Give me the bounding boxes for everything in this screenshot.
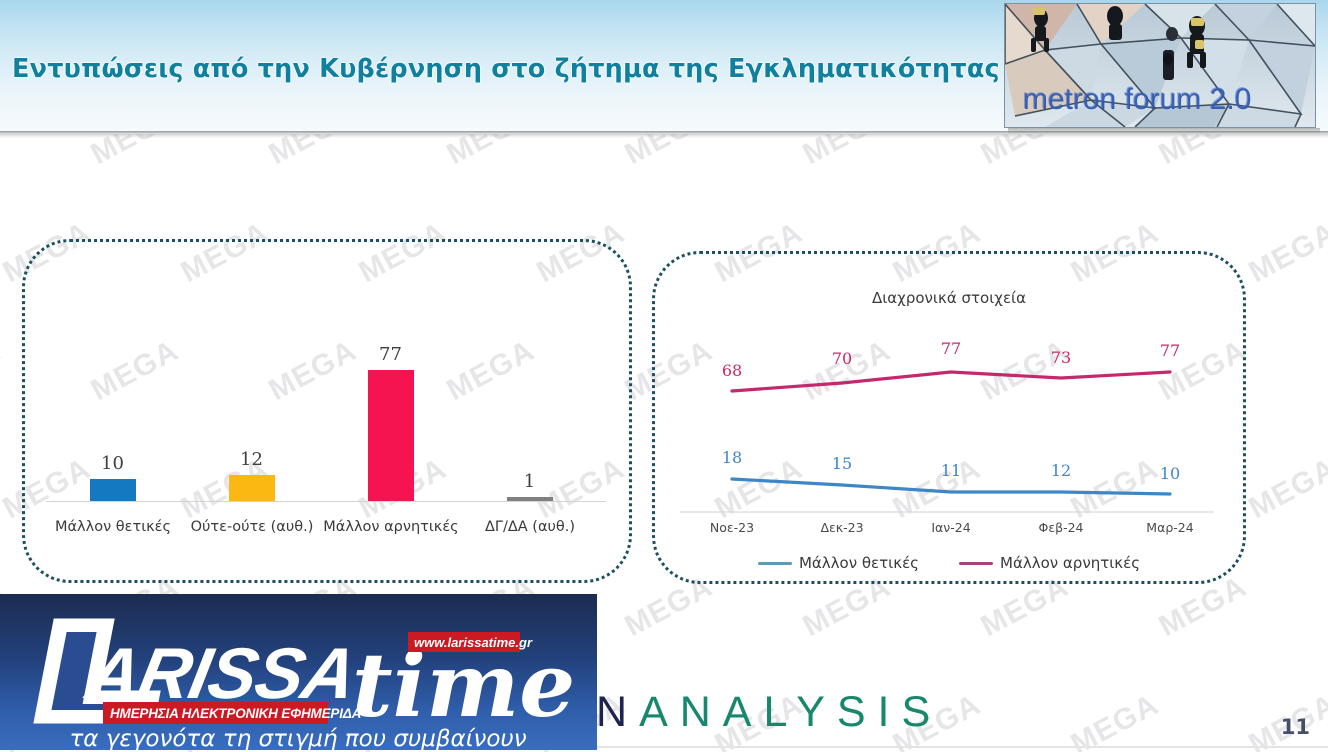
svg-text:ΗΜΕΡΗΣΙΑ ΗΛΕΚΤΡΟΝΙΚΗ ΕΦΗΜΕΡΙΔΑ: ΗΜΕΡΗΣΙΑ ΗΛΕΚΤΡΟΝΙΚΗ ΕΦΗΜΕΡΙΔΑ — [110, 706, 361, 721]
bar-category-label: Μάλλον θετικές — [33, 519, 193, 535]
header-divider-shadow — [0, 134, 1328, 138]
larissatime-logo: ARISSA time www.larissatime.gr ΗΜΕΡΗΣΙΑ … — [0, 594, 597, 750]
bar-rect[interactable] — [507, 497, 553, 501]
legend-swatch-negative — [959, 562, 993, 565]
bar-category-label: ΔΓ/ΔΑ (αυθ.) — [450, 519, 610, 535]
series-line-positive — [732, 479, 1170, 494]
svg-text:www.larissatime.gr: www.larissatime.gr — [414, 635, 533, 650]
legend-label-positive: Μάλλον θετικές — [799, 554, 919, 572]
data-label-positive: 15 — [822, 456, 862, 472]
x-axis-tick: Δεκ-23 — [802, 520, 882, 535]
bar-column[interactable]: 1 — [460, 473, 599, 501]
metron-forum-logo-image: metron forum 2.0 metron forum 2.0 — [1005, 4, 1315, 127]
bar-column[interactable]: 10 — [43, 455, 182, 501]
metron-forum-logo: metron forum 2.0 metron forum 2.0 — [1004, 3, 1316, 128]
bar-category-label: Μάλλον αρνητικές — [311, 519, 471, 535]
footer-divider — [596, 746, 1328, 748]
legend-item-positive[interactable]: Μάλλον θετικές — [758, 554, 919, 572]
bar-column[interactable]: 77 — [321, 346, 460, 501]
watermark-text: MEGA — [0, 334, 6, 408]
bar-value-label: 10 — [43, 455, 182, 473]
bar-rect[interactable] — [229, 475, 275, 501]
data-label-negative: 73 — [1041, 350, 1081, 366]
bar-value-label: 12 — [182, 451, 321, 469]
watermark-text: MEGA — [1244, 452, 1328, 526]
x-axis-tick: Φεβ-24 — [1021, 520, 1101, 535]
page-number: 11 — [1281, 715, 1310, 739]
watermark-text: MEGA — [1066, 688, 1165, 752]
legend-label-negative: Μάλλον αρνητικές — [1000, 554, 1140, 572]
data-label-positive: 10 — [1150, 466, 1190, 482]
data-label-positive: 12 — [1041, 463, 1081, 479]
chart-legend: Μάλλον θετικές Μάλλον αρνητικές — [652, 554, 1246, 572]
svg-text:ARISSA: ARISSA — [79, 634, 363, 714]
bar-chart-axis-line — [46, 501, 606, 502]
bar-column[interactable]: 12 — [182, 451, 321, 501]
nanalysis-logo: NANALYSIS — [596, 688, 942, 737]
bar-value-label: 77 — [321, 346, 460, 364]
nanalysis-wordmark: ANALYSIS — [639, 688, 942, 736]
data-label-positive: 18 — [712, 450, 752, 466]
page-title: Εντυπώσεις από την Κυβέρνηση στο ζήτημα … — [12, 54, 1000, 84]
x-axis-tick: Μαρ-24 — [1130, 520, 1210, 535]
nanalysis-first-letter: N — [596, 688, 639, 736]
series-line-negative — [732, 372, 1170, 391]
data-label-negative: 68 — [712, 363, 752, 379]
svg-text:τα γεγονότα τη στιγμή που συμβ: τα γεγονότα τη στιγμή που συμβαίνουν — [69, 726, 526, 750]
legend-item-negative[interactable]: Μάλλον αρνητικές — [959, 554, 1140, 572]
bar-rect[interactable] — [90, 479, 136, 501]
data-label-positive: 11 — [931, 463, 971, 479]
data-label-negative: 70 — [822, 351, 862, 367]
data-label-negative: 77 — [1150, 343, 1190, 359]
metron-logo-shadow — [1008, 128, 1320, 134]
data-label-negative: 77 — [931, 341, 971, 357]
bar-rect[interactable] — [368, 370, 414, 501]
bar-category-label: Ούτε-ούτε (αυθ.) — [172, 519, 332, 535]
bar-value-label: 1 — [460, 473, 599, 491]
x-axis-tick: Νοε-23 — [692, 520, 772, 535]
bar-chart: 10 12 77 1 Μάλλον θετικές Ούτε-ούτε (αυθ… — [22, 239, 632, 583]
watermark-text: MEGA — [1244, 216, 1328, 290]
line-chart: Διαχρονικά στοιχεία 68 70 77 73 77 18 15… — [652, 251, 1246, 584]
x-axis-tick: Ιαν-24 — [911, 520, 991, 535]
legend-swatch-positive — [758, 562, 792, 565]
larissatime-logo-image: ARISSA time www.larissatime.gr ΗΜΕΡΗΣΙΑ … — [0, 594, 597, 750]
svg-text:metron forum 2.0: metron forum 2.0 — [1022, 82, 1250, 115]
